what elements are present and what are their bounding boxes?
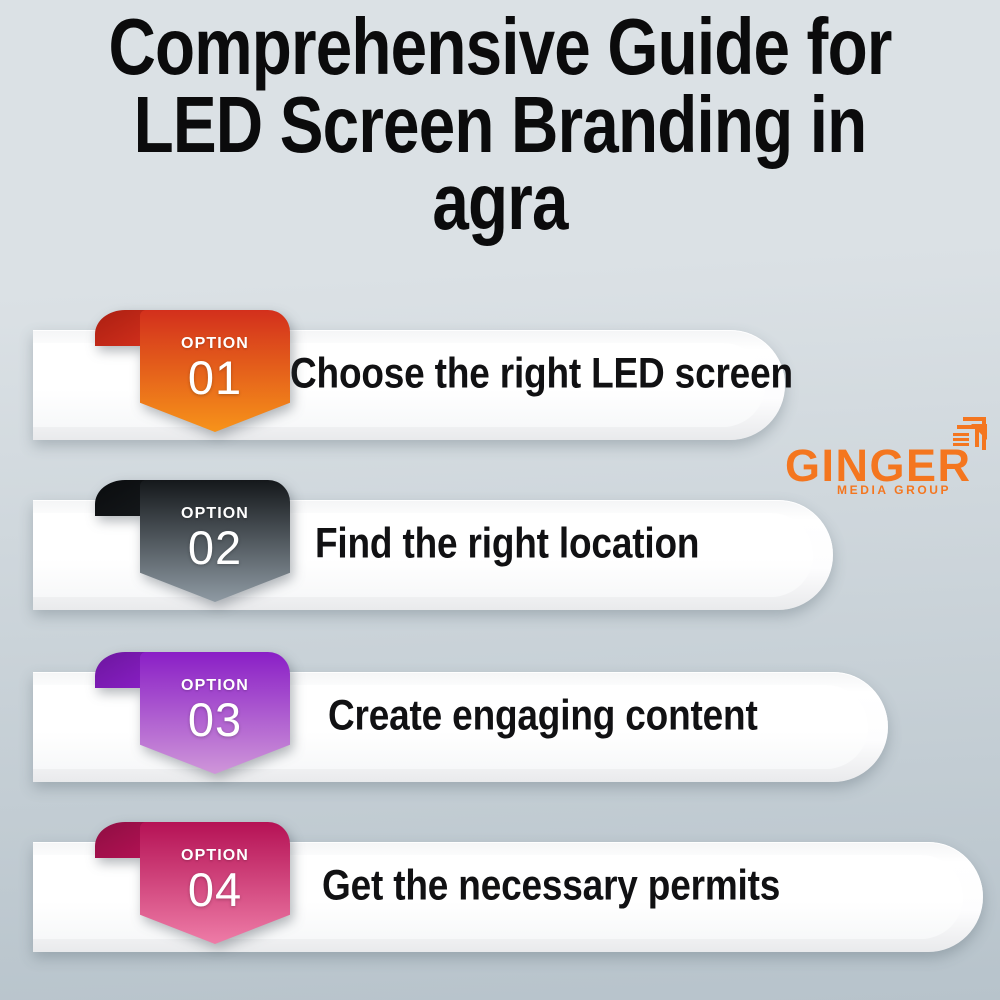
ribbon-number-3: 03 (140, 695, 290, 744)
infographic-canvas: Comprehensive Guide for LED Screen Brand… (0, 0, 1000, 1000)
option-row-1[interactable]: Choose the right LED screen OPTION 01 (33, 308, 785, 440)
ginger-bar-arrow-mark-icon (951, 415, 991, 455)
option-text-1: Choose the right LED screen (290, 350, 875, 399)
option-ribbon-1: OPTION 01 (140, 308, 290, 432)
option-ribbon-2: OPTION 02 (140, 478, 290, 602)
option-ribbon-3: OPTION 03 (140, 650, 290, 774)
option-row-4[interactable]: Get the necessary permits OPTION 04 (33, 820, 983, 952)
ginger-media-group-logo: GINGER MEDIA GROUP (785, 415, 985, 505)
option-row-3[interactable]: Create engaging content OPTION 03 (33, 650, 888, 782)
ribbon-number-2: 02 (140, 523, 290, 572)
title-line-1: Comprehensive Guide for (101, 8, 898, 86)
page-title: Comprehensive Guide for LED Screen Brand… (0, 8, 1000, 241)
option-text-3: Create engaging content (328, 692, 828, 741)
title-line-2: LED Screen Branding in (101, 86, 898, 164)
logo-subtitle: MEDIA GROUP (837, 484, 951, 496)
ribbon-number-1: 01 (140, 353, 290, 402)
logo-wordmark: GINGER (785, 443, 972, 488)
option-text-4: Get the necessary permits (322, 862, 855, 911)
ribbon-number-4: 04 (140, 865, 290, 914)
option-row-2[interactable]: Find the right location OPTION 02 (33, 478, 833, 610)
option-text-2: Find the right location (315, 520, 762, 569)
option-ribbon-4: OPTION 04 (140, 820, 290, 944)
title-line-3: agra (101, 163, 898, 241)
